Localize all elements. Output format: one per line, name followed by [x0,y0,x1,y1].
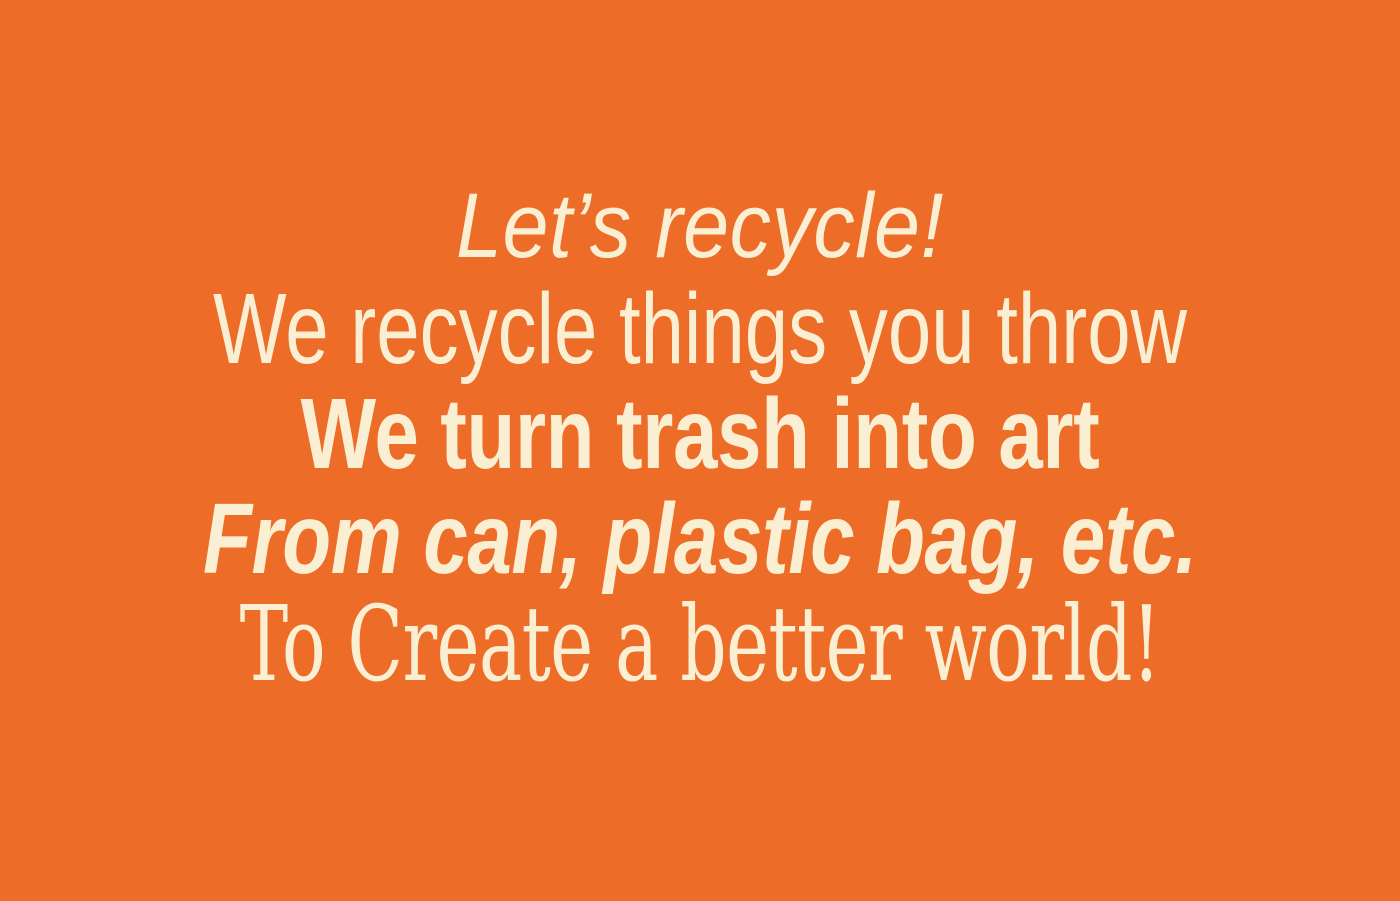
headline-block: Let’s recycle! We recycle things you thr… [0,172,1400,702]
headline-line-3: We turn trash into art [140,382,1260,487]
poster-canvas: Let’s recycle! We recycle things you thr… [0,0,1400,901]
headline-line-4: From can, plastic bag, etc. [140,487,1260,592]
headline-line-1: Let’s recycle! [70,172,1330,277]
headline-line-2: We recycle things you throw [154,277,1246,382]
headline-line-5: To Create a better world! [210,592,1190,702]
